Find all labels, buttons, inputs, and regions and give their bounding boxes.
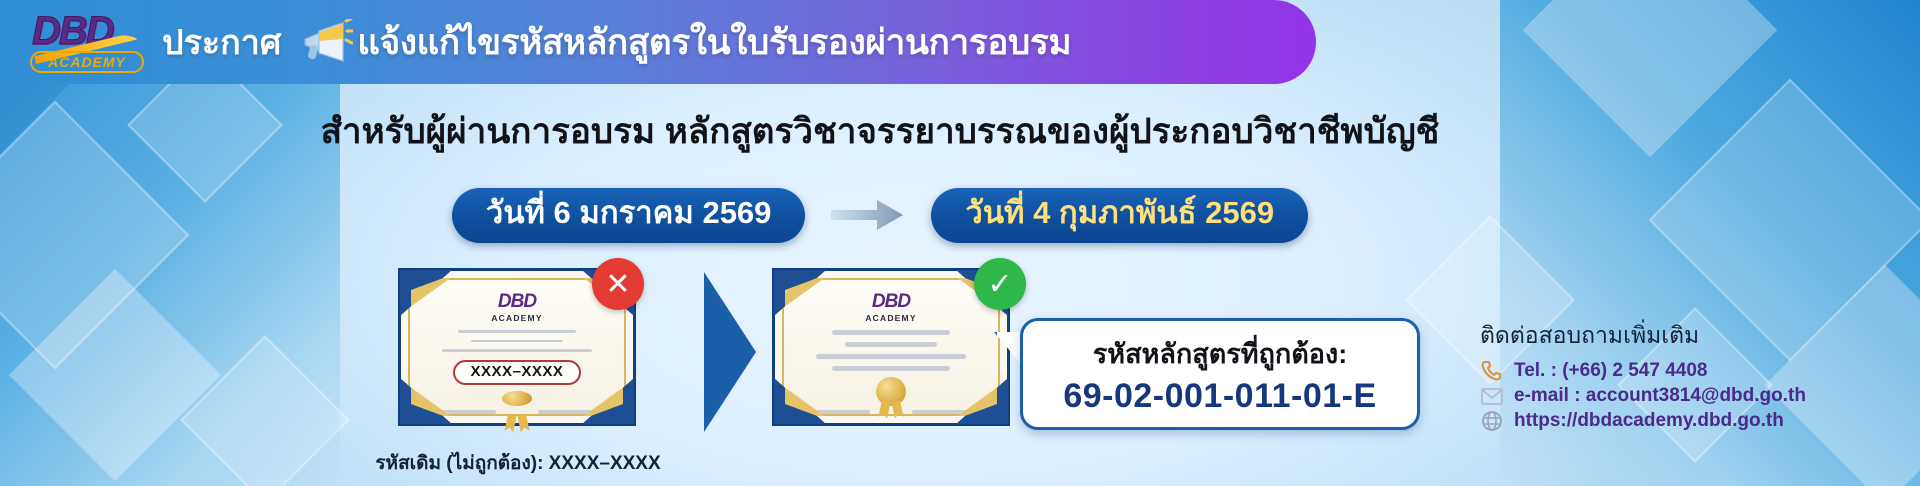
correct-code-callout: รหัสหลักสูตรที่ถูกต้อง: 69-02-001-011-01… bbox=[1020, 318, 1420, 430]
certificate-placeholder-line bbox=[832, 366, 950, 371]
logo-academy-text: ACADEMY bbox=[30, 51, 144, 73]
megaphone-icon bbox=[299, 19, 353, 65]
certificate-seal-icon bbox=[876, 377, 906, 406]
new-date-pill: วันที่ 4 กุมภาพันธ์ 2569 bbox=[931, 188, 1308, 243]
certificate-signature-lines bbox=[816, 410, 966, 414]
contact-website-row: https://dbdacademy.dbd.go.th bbox=[1480, 410, 1900, 432]
certificate-placeholder-line bbox=[832, 330, 950, 335]
certificate-signature-line bbox=[442, 410, 496, 414]
old-date-pill: วันที่ 6 มกราคม 2569 bbox=[452, 188, 806, 243]
contact-phone-row: Tel. : (+66) 2 547 4408 bbox=[1480, 360, 1900, 382]
certificate-logo-text: DBD bbox=[872, 292, 910, 311]
certificate-signature-line bbox=[816, 410, 870, 414]
header-title: แจ้งแก้ไขรหัสหลักสูตรในใบรับรองผ่านการอบ… bbox=[357, 15, 1071, 70]
certificate-old-inner: DBD ACADEMY XXXX–XXXX bbox=[408, 278, 626, 416]
check-mark-icon: ✓ bbox=[974, 258, 1026, 310]
certificate-logo-text: DBD bbox=[498, 292, 536, 311]
certificate-placeholder-line bbox=[845, 342, 937, 347]
certificate-placeholder-line bbox=[471, 340, 563, 343]
contact-phone-text: Tel. : (+66) 2 547 4408 bbox=[1514, 360, 1707, 382]
callout-course-code: 69-02-001-011-01-E bbox=[1063, 377, 1376, 416]
mail-icon bbox=[1480, 385, 1504, 407]
announce-label: ประกาศ bbox=[162, 15, 281, 69]
contact-email-text[interactable]: e-mail : account3814@dbd.go.th bbox=[1514, 385, 1806, 407]
certificate-signature-line bbox=[538, 410, 592, 414]
certificate-placeholder-line bbox=[442, 349, 592, 352]
certificate-academy-text: ACADEMY bbox=[865, 313, 916, 323]
page-title: สำหรับผู้ผ่านการอบรม หลักสูตรวิชาจรรยาบร… bbox=[300, 104, 1460, 159]
globe-icon bbox=[1480, 410, 1504, 432]
contact-title: ติดต่อสอบถามเพิ่มเติม bbox=[1480, 318, 1900, 354]
certificate-new-inner: DBD ACADEMY bbox=[782, 278, 1000, 416]
big-arrow-right-icon bbox=[700, 272, 760, 432]
dbd-academy-logo: DBD ACADEMY bbox=[28, 9, 148, 75]
certificate-old-code: XXXX–XXXX bbox=[453, 360, 582, 385]
certificate-signature-line bbox=[912, 410, 966, 414]
header-banner: DBD ACADEMY ประกาศ แจ้งแก้ไขรหัสหลักสูตร… bbox=[0, 0, 1316, 84]
certificate-academy-text: ACADEMY bbox=[491, 313, 542, 323]
contact-section: ติดต่อสอบถามเพิ่มเติม Tel. : (+66) 2 547… bbox=[1480, 318, 1900, 432]
callout-label: รหัสหลักสูตรที่ถูกต้อง: bbox=[1093, 332, 1347, 375]
cross-mark-icon: ✕ bbox=[592, 258, 644, 310]
certificate-old-caption: รหัสเดิม (ไม่ถูกต้อง): XXXX–XXXX bbox=[368, 448, 668, 478]
banner-stage: DBD ACADEMY ประกาศ แจ้งแก้ไขรหัสหลักสูตร… bbox=[0, 0, 1920, 486]
phone-icon bbox=[1480, 360, 1504, 382]
certificate-seal-icon bbox=[502, 391, 532, 406]
certificate-placeholder-line bbox=[458, 330, 576, 333]
date-change-row: วันที่ 6 มกราคม 2569 วันที่ 4 กุมภาพันธ์… bbox=[380, 188, 1380, 243]
arrow-right-icon bbox=[831, 198, 905, 232]
certificate-signature-lines bbox=[442, 410, 592, 414]
contact-email-row: e-mail : account3814@dbd.go.th bbox=[1480, 385, 1900, 407]
contact-website-text[interactable]: https://dbdacademy.dbd.go.th bbox=[1514, 410, 1784, 432]
certificate-placeholder-line bbox=[816, 354, 966, 359]
